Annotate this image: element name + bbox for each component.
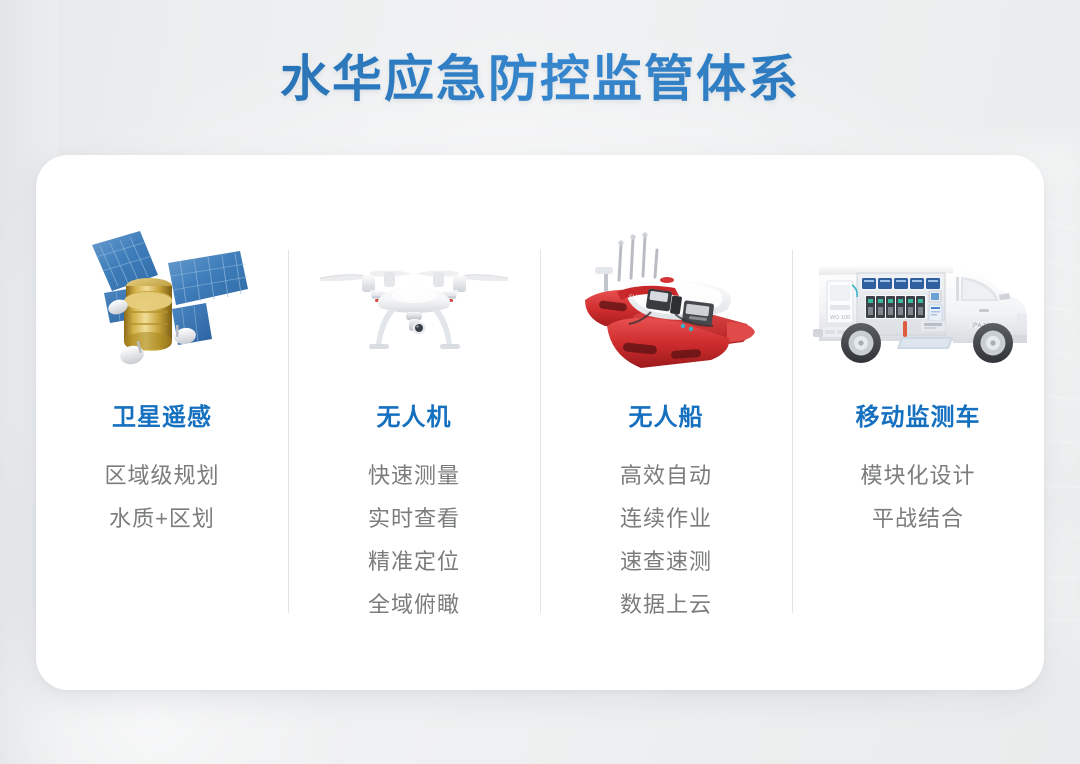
column-items: 高效自动 连续作业 速查速测 数据上云 (620, 454, 712, 626)
column-title: 无人船 (629, 397, 704, 432)
column-item: 全域俯瞰 (368, 583, 460, 626)
column-item: 速查速测 (620, 540, 712, 583)
mobile-monitoring-van-icon: 沪A·1N (803, 233, 1033, 373)
column-item: 平战结合 (872, 497, 964, 540)
column-item: 精准定位 (368, 540, 460, 583)
satellite-icon (72, 223, 252, 383)
column-item: 数据上云 (620, 583, 712, 626)
feature-column-satellite[interactable]: 卫星遥感 区域级规划 水质+区划 (36, 155, 288, 690)
unmanned-boat-figure: SHH-2000 (540, 210, 792, 395)
feature-column-mobile-van[interactable]: 沪A·1N (792, 155, 1044, 690)
unmanned-boat-icon: SHH-2000 (571, 230, 761, 375)
column-item: 快速测量 (368, 454, 460, 497)
page-title: 水华应急防控监管体系 (0, 50, 1080, 109)
feature-columns: 卫星遥感 区域级规划 水质+区划 (36, 155, 1044, 690)
column-items: 区域级规划 水质+区划 (104, 454, 219, 540)
feature-column-unmanned-boat[interactable]: SHH-2000 (540, 155, 792, 690)
column-item: 水质+区划 (109, 497, 215, 540)
satellite-figure (36, 210, 288, 395)
column-title: 无人机 (377, 397, 452, 432)
column-item: 高效自动 (620, 454, 712, 497)
column-items: 模块化设计 平战结合 (860, 454, 975, 540)
feature-column-drone[interactable]: 无人机 快速测量 实时查看 精准定位 全域俯瞰 (288, 155, 540, 690)
feature-card: 卫星遥感 区域级规划 水质+区划 (36, 155, 1044, 690)
column-item: 实时查看 (368, 497, 460, 540)
svg-text:WQ-100: WQ-100 (830, 315, 850, 321)
column-title: 移动监测车 (856, 397, 981, 432)
drone-icon (314, 238, 514, 368)
column-title: 卫星遥感 (112, 397, 212, 432)
drone-figure (288, 210, 540, 395)
column-item: 连续作业 (620, 497, 712, 540)
mobile-monitoring-van-figure: 沪A·1N (792, 210, 1044, 395)
column-items: 快速测量 实时查看 精准定位 全域俯瞰 (368, 454, 460, 626)
column-item: 模块化设计 (860, 454, 975, 497)
column-item: 区域级规划 (104, 454, 219, 497)
